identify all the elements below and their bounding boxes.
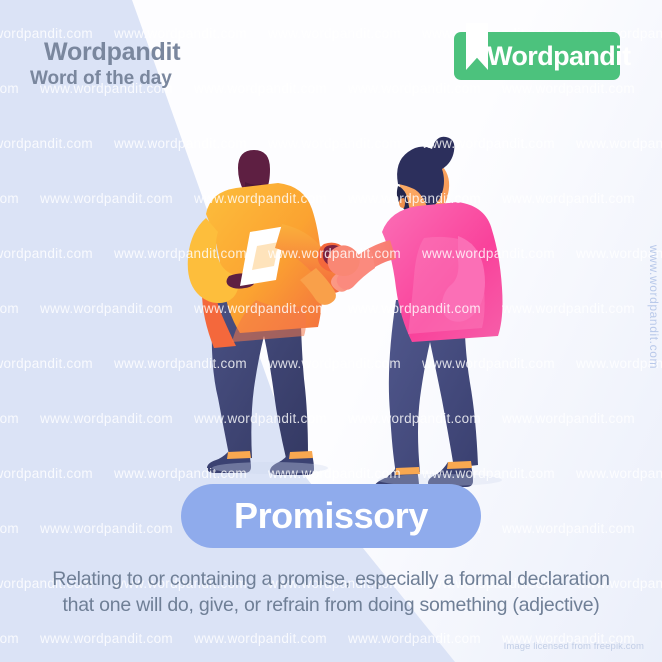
definition-text: Relating to or containing a promise, esp… <box>14 566 648 618</box>
bookmark-icon <box>466 23 488 70</box>
logo-label: Wordpandit <box>487 41 630 72</box>
side-watermark-text: www.wordpandit.com <box>647 245 661 369</box>
word-pill: Promissory <box>181 484 481 548</box>
definition-line-2: that one will do, give, or refrain from … <box>14 592 648 618</box>
word-of-the-day-card: www.wordpandit.com www.wordpandit.com ww… <box>0 0 662 662</box>
definition-line-1: Relating to or containing a promise, esp… <box>14 566 648 592</box>
page-subtitle: Word of the day <box>30 68 172 90</box>
brand-title: Wordpandit <box>44 38 180 67</box>
word-of-the-day: Promissory <box>234 495 428 537</box>
handshake-illustration <box>0 0 662 662</box>
image-credit: Image licensed from freepik.com <box>504 641 644 652</box>
wordpandit-logo[interactable]: Wordpandit <box>454 32 620 80</box>
